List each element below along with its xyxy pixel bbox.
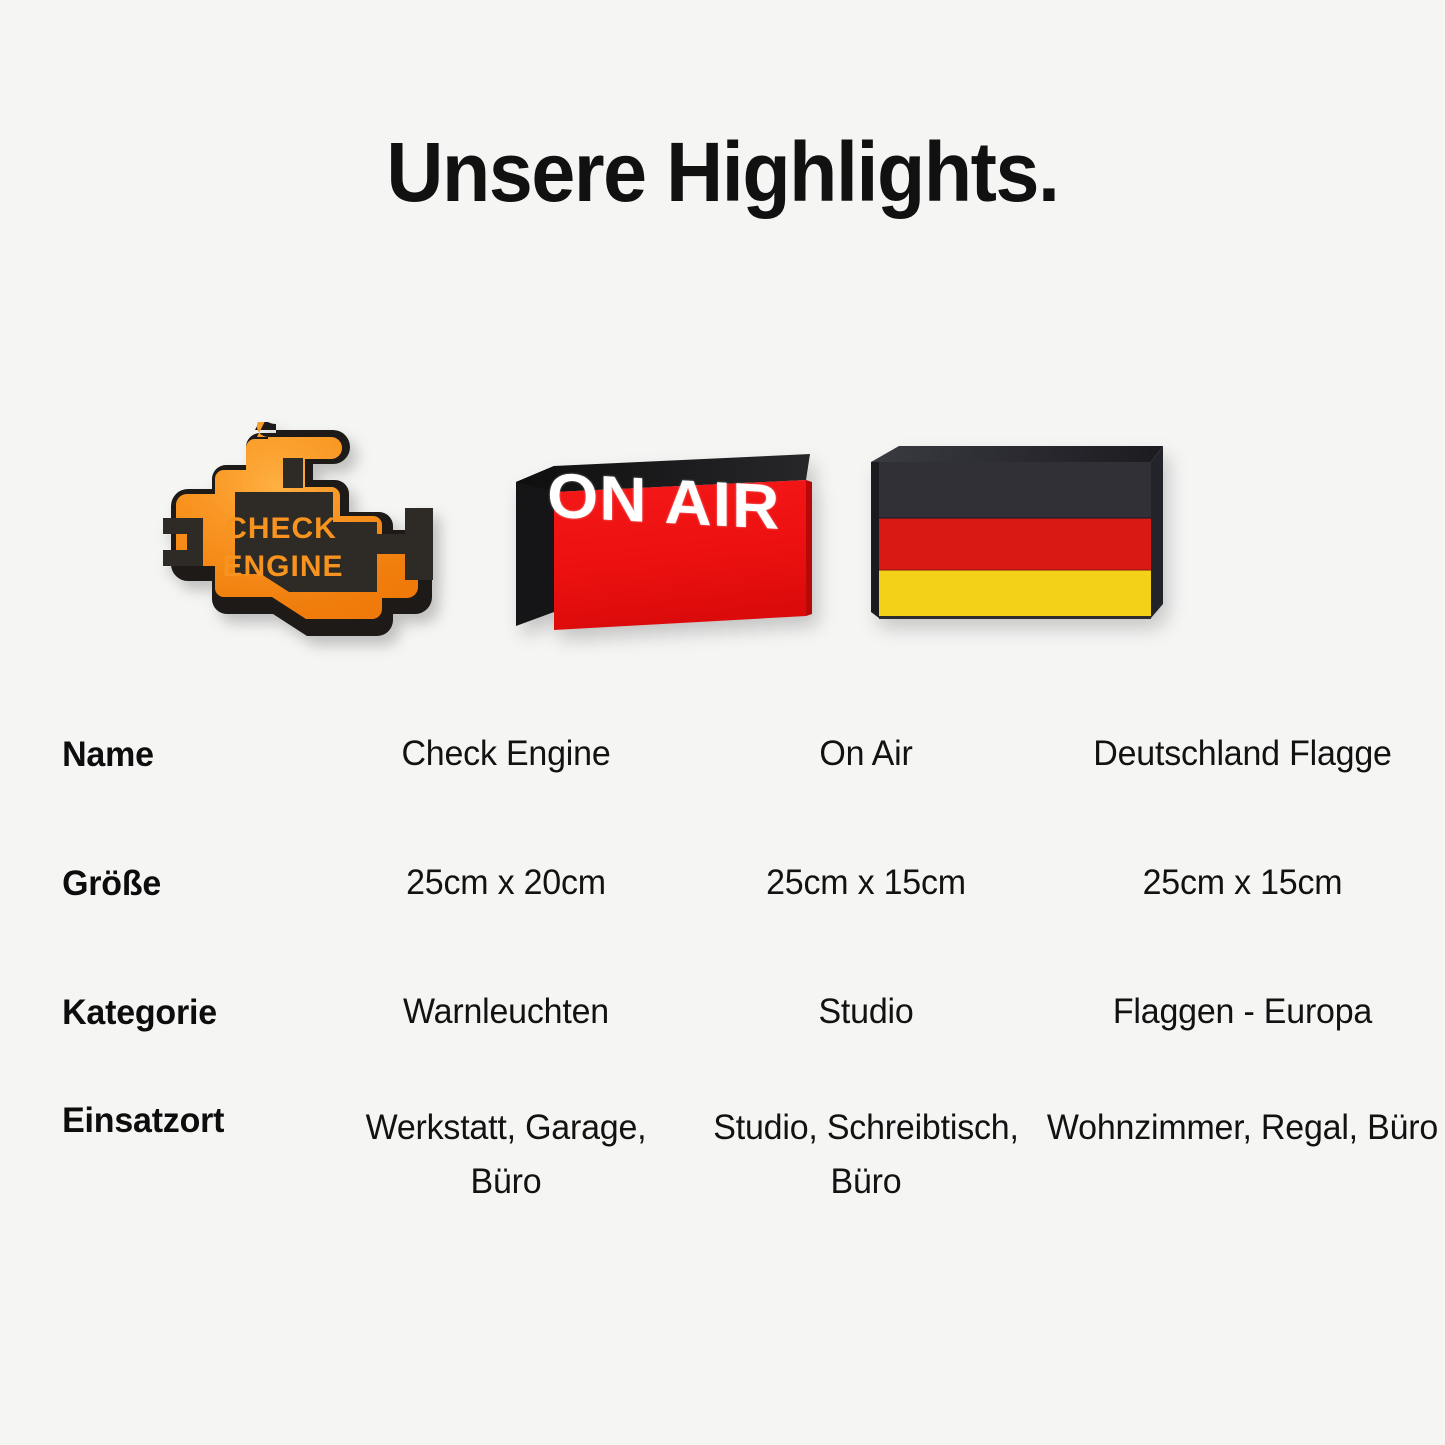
page-title: Unsere Highlights. <box>43 128 1401 216</box>
cell-usage-germany-flag: Wohnzimmer, Regal, Büro <box>1046 1077 1439 1243</box>
table-row: Einsatzort Werkstatt, Garage, Büro Studi… <box>0 1077 1445 1243</box>
table-row: Name Check Engine On Air Deutschland Fla… <box>0 690 1445 819</box>
check-engine-lamp-icon: CHECK ENGINE <box>143 422 453 647</box>
product-image-row: CHECK ENGINE <box>0 408 1445 658</box>
cell-usage-check-engine: Werkstatt, Garage, Büro <box>326 1077 687 1243</box>
highlights-page: Unsere Highlights. <box>0 0 1445 1445</box>
cell-name-check-engine: Check Engine <box>326 690 687 819</box>
row-label-kategorie: Kategorie <box>0 948 310 1077</box>
product-image-check-engine[interactable]: CHECK ENGINE <box>135 408 490 658</box>
svg-text:CHECK: CHECK <box>225 512 337 545</box>
on-air-light-box-icon <box>510 444 818 640</box>
cell-size-on-air: 25cm x 15cm <box>697 819 1035 948</box>
cell-category-germany-flag: Flaggen - Europa <box>1046 948 1439 1077</box>
cell-size-germany-flag: 25cm x 15cm <box>1046 819 1439 948</box>
table-row: Kategorie Warnleuchten Studio Flaggen - … <box>0 948 1445 1077</box>
product-image-on-air[interactable]: ON AIR <box>490 408 835 658</box>
svg-text:ENGINE: ENGINE <box>222 550 343 583</box>
specs-table: Name Check Engine On Air Deutschland Fla… <box>0 690 1445 1243</box>
cell-usage-on-air: Studio, Schreibtisch, Büro <box>697 1077 1035 1243</box>
cell-category-check-engine: Warnleuchten <box>326 948 687 1077</box>
row-label-name: Name <box>0 690 310 819</box>
cell-category-on-air: Studio <box>697 948 1035 1077</box>
row-label-einsatzort: Einsatzort <box>0 1077 310 1243</box>
germany-flag-light-box-icon <box>863 432 1175 632</box>
product-image-germany-flag[interactable] <box>835 408 1195 658</box>
cell-name-germany-flag: Deutschland Flagge <box>1046 690 1439 819</box>
cell-name-on-air: On Air <box>697 690 1035 819</box>
table-row: Größe 25cm x 20cm 25cm x 15cm 25cm x 15c… <box>0 819 1445 948</box>
row-label-groesse: Größe <box>0 819 310 948</box>
cell-size-check-engine: 25cm x 20cm <box>326 819 687 948</box>
